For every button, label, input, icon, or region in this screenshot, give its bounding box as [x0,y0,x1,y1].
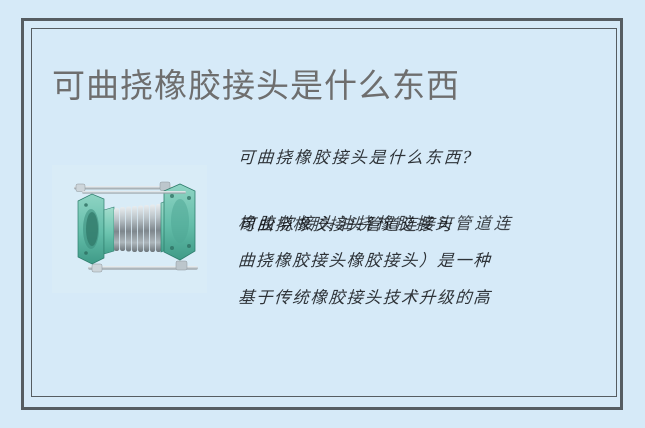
article-body: 橡胶软接头油挠橡胶接头管道连可 橡胶软接头油挠橡胶接头管道连 可曲挠橡胶接头管道… [238,205,583,316]
product-photo [52,165,207,293]
bellows-expansion-joint-icon [52,165,207,293]
body-line-2: 曲挠橡胶接头橡胶接头）是一种 [237,242,584,279]
body-line-1-ghost-b: 可曲挠橡胶接头管道连接可 [238,206,455,243]
article-block: 可曲挠橡胶接头是什么东西? 橡胶软接头油挠橡胶接头管道连可 橡胶软接头油挠橡胶接… [238,143,583,316]
page-title: 可曲挠橡胶接头是什么东西 [52,64,460,108]
body-line-1: 橡胶软接头油挠橡胶接头管道连可 橡胶软接头油挠橡胶接头管道连 可曲挠橡胶接头管道… [237,205,584,242]
poster-canvas: 可曲挠橡胶接头是什么东西 [0,0,645,428]
article-heading: 可曲挠橡胶接头是什么东西? [237,143,584,173]
body-line-3: 基于传统橡胶接头技术升级的高 [237,279,584,316]
